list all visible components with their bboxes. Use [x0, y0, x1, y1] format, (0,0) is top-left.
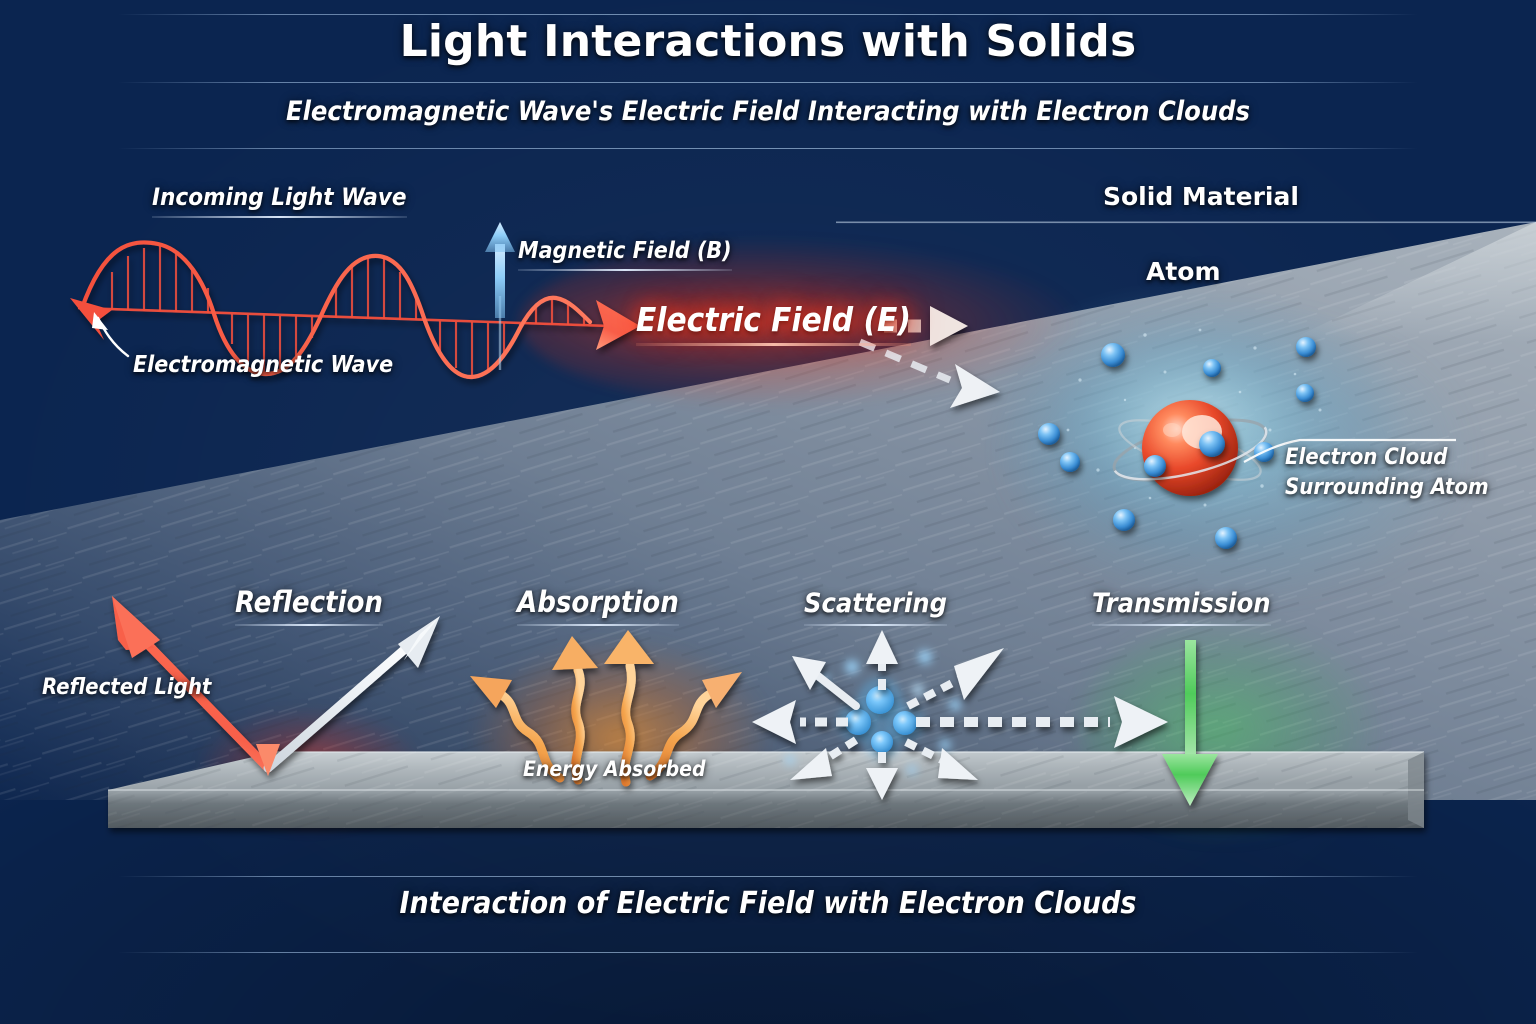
label-electric-field: Electric Field (E): [636, 300, 911, 346]
label-electromagnetic-wave: Electromagnetic Wave: [133, 352, 393, 378]
reflection-outgoing-arrow: [268, 636, 420, 768]
label-energy-absorbed: Energy Absorbed: [523, 757, 705, 781]
header-rule-top: [118, 14, 1418, 15]
label-reflection: Reflection: [235, 585, 383, 626]
label-atom: Atom: [1146, 257, 1221, 286]
label-electron-cloud-line2: Surrounding Atom: [1285, 473, 1489, 503]
label-electron-cloud-line1: Electron Cloud: [1285, 443, 1489, 473]
wave-left-arrowhead: [70, 298, 112, 340]
diagram-canvas: Light Interactions with Solids Electroma…: [0, 0, 1536, 1024]
label-reflected-light: Reflected Light: [42, 675, 211, 700]
diagram-vector-layer: [0, 0, 1536, 1024]
label-transmission: Transmission: [1092, 588, 1271, 626]
atom-group: [975, 280, 1456, 560]
header-rule-bottom: [118, 148, 1418, 149]
orbital-electron: [1144, 455, 1166, 477]
footer-rule-top: [118, 876, 1418, 877]
label-absorption: Absorption: [517, 585, 679, 626]
orbital-electron: [1199, 431, 1225, 457]
label-solid-material: Solid Material: [1103, 182, 1299, 211]
page-title: Light Interactions with Solids: [0, 16, 1536, 67]
label-scattering: Scattering: [804, 588, 947, 626]
label-electron-cloud: Electron Cloud Surrounding Atom: [1285, 443, 1489, 503]
solid-slab: [106, 752, 1424, 828]
label-magnetic-field: Magnetic Field (B): [518, 238, 732, 271]
page-caption: Interaction of Electric Field with Elect…: [0, 886, 1536, 921]
footer-rule-bottom: [118, 952, 1418, 953]
label-incoming-light-wave: Incoming Light Wave: [152, 183, 407, 218]
page-subtitle: Electromagnetic Wave's Electric Field In…: [0, 96, 1536, 127]
header-rule-mid: [118, 82, 1418, 83]
